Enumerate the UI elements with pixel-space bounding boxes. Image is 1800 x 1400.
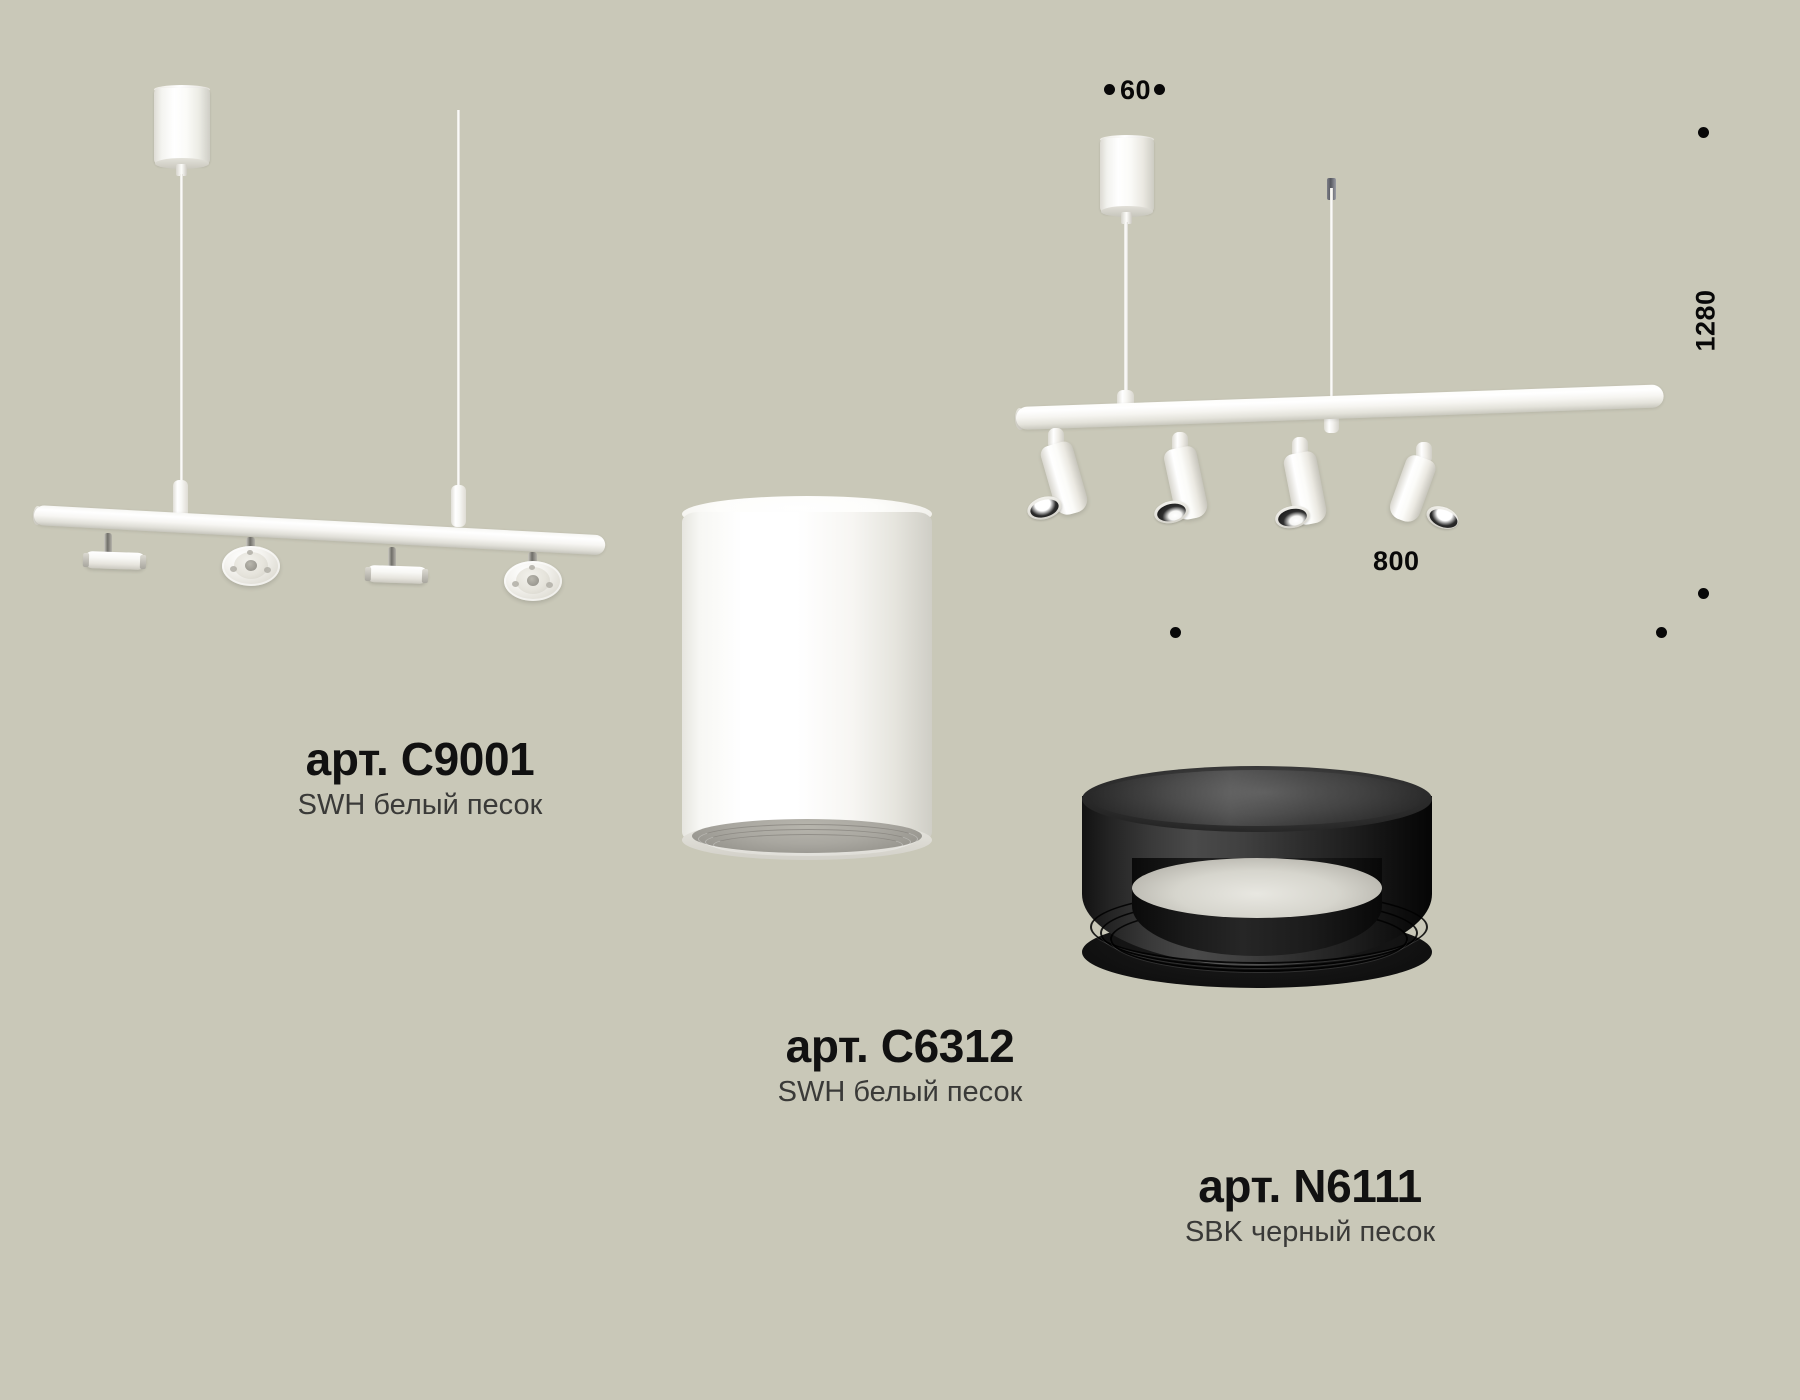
dimension-dot-length-left [1170, 627, 1181, 638]
product-finish-n6111: SBK черный песок [1050, 1211, 1570, 1255]
suspension-cable-left-icon [180, 174, 183, 484]
assembly-ceiling-canopy-icon [1100, 138, 1154, 214]
dimension-dot-width-right [1154, 84, 1165, 95]
spot-1-end-left-icon [83, 553, 89, 567]
product-image-n6111 [1060, 740, 1460, 1060]
dimension-length-label: 800 [1373, 546, 1420, 577]
spot-4-screw-top-icon [529, 565, 535, 570]
cylinder-body-icon [682, 512, 932, 842]
product-finish-c6312: SWH белый песок [645, 1071, 1155, 1115]
ring-bore-icon [1132, 858, 1382, 918]
ceiling-canopy-icon [154, 88, 210, 166]
cylinder-groove-3-icon [713, 834, 903, 856]
product-article-n6111: арт. N6111 [1050, 1162, 1570, 1211]
dimension-dot-drop-top [1698, 127, 1709, 138]
spot-3-head-icon [366, 565, 429, 584]
spot-2-screw-top-icon [247, 550, 253, 555]
assembly-track-bar-icon [1016, 384, 1664, 430]
dimension-dot-length-right [1656, 627, 1667, 638]
spot-2-screw-right-icon [264, 567, 271, 573]
dimension-dot-drop-bottom [1698, 588, 1709, 599]
dimension-drop-label: 1280 [1691, 278, 1722, 364]
spot-4-screw-left-icon [512, 581, 519, 587]
product-article-c9001: арт. C9001 [170, 735, 670, 784]
spot-1-head-icon [84, 551, 147, 570]
spot-2-screw-left-icon [230, 566, 237, 572]
spot-2-head-core-icon [245, 560, 257, 571]
spot-1-end-right-icon [140, 555, 146, 569]
track-stem-right-icon [451, 485, 466, 527]
product-image-c6312 [660, 490, 960, 890]
dimension-width-label: 60 [1120, 75, 1151, 106]
product-image-track-assembly [960, 60, 1740, 620]
product-finish-c9001: SWH белый песок [170, 784, 670, 828]
suspension-cable-right-icon [457, 110, 460, 488]
track-bar-icon [33, 505, 605, 555]
product-label-c9001: арт. C9001 SWH белый песок [170, 735, 670, 827]
dimension-dot-width-left [1104, 84, 1115, 95]
product-image-c9001 [0, 0, 660, 660]
spot-4-screw-right-icon [546, 582, 553, 588]
spot-3-end-right-icon [422, 569, 428, 583]
product-label-n6111: арт. N6111 SBK черный песок [1050, 1162, 1570, 1254]
assembly-suspension-cable-icon [1330, 188, 1333, 410]
ring-top-sheen-icon [1090, 770, 1424, 826]
product-spec-canvas: арт. C9001 SWH белый песок [0, 0, 1800, 1400]
assembly-suspension-rod-icon [1124, 222, 1128, 395]
spot-3-end-left-icon [365, 567, 371, 581]
spot-4-head-core-icon [527, 575, 539, 586]
